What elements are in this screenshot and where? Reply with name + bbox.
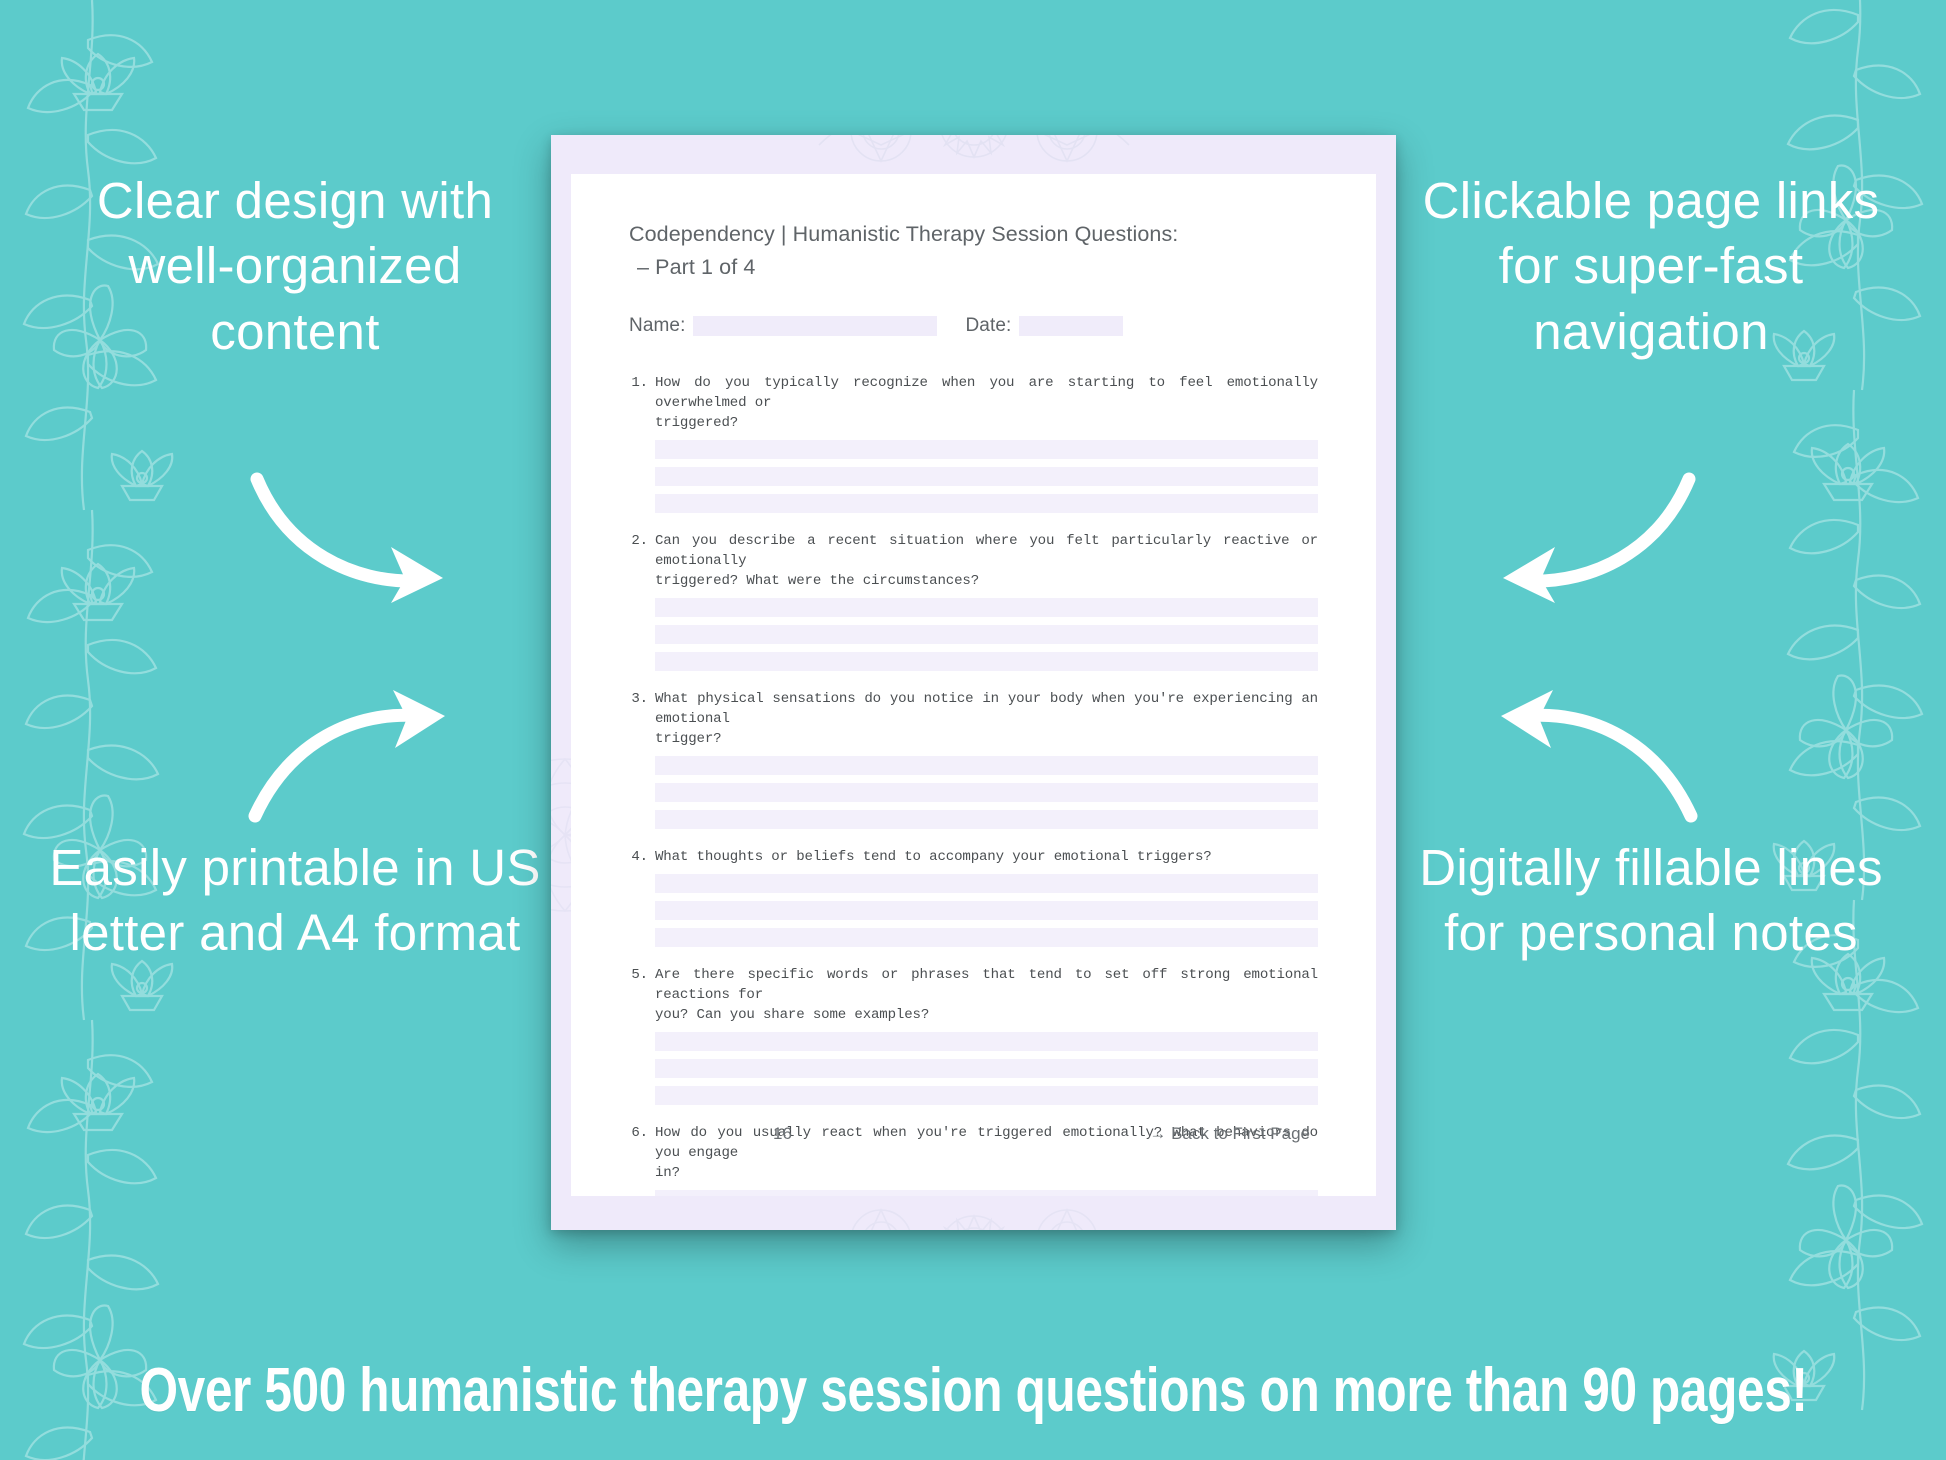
answer-line[interactable] bbox=[655, 440, 1318, 459]
curved-arrow-up-left-icon bbox=[1476, 690, 1701, 830]
page-number: 16 bbox=[773, 1124, 792, 1144]
question-text: Are there specific words or phrases that… bbox=[655, 965, 1318, 1025]
question-number: 1. bbox=[629, 373, 655, 393]
answer-line[interactable] bbox=[655, 1032, 1318, 1051]
question-number: 3. bbox=[629, 689, 655, 709]
question-text: What physical sensations do you notice i… bbox=[655, 689, 1318, 749]
worksheet-content-area: Codependency | Humanistic Therapy Sessio… bbox=[571, 174, 1376, 1196]
question-list: 1. How do you typically recognize when y… bbox=[629, 373, 1318, 1196]
promo-stage: Clear design with well-organized content… bbox=[0, 0, 1946, 1460]
curved-arrow-right-icon bbox=[245, 465, 470, 605]
worksheet-page: Codependency | Humanistic Therapy Sessio… bbox=[551, 135, 1396, 1230]
banner-headline: Over 500 humanistic therapy session ques… bbox=[139, 1355, 1807, 1426]
worksheet-footer: 16 → Back to First Page bbox=[629, 1124, 1318, 1144]
answer-line[interactable] bbox=[655, 874, 1318, 893]
answer-lines bbox=[629, 440, 1318, 513]
answer-line[interactable] bbox=[655, 652, 1318, 671]
question-item: 4. What thoughts or beliefs tend to acco… bbox=[629, 847, 1318, 947]
answer-line[interactable] bbox=[655, 494, 1318, 513]
name-input[interactable] bbox=[693, 316, 937, 336]
answer-line[interactable] bbox=[655, 810, 1318, 829]
caption-fillable-lines: Digitally fillable lines for personal no… bbox=[1396, 835, 1906, 966]
meta-row: Name: Date: bbox=[629, 315, 1318, 337]
question-number: 4. bbox=[629, 847, 655, 867]
answer-line[interactable] bbox=[655, 783, 1318, 802]
answer-line[interactable] bbox=[655, 928, 1318, 947]
caption-clickable-links: Clickable page links for super-fast navi… bbox=[1396, 168, 1906, 364]
question-item: 5. Are there specific words or phrases t… bbox=[629, 965, 1318, 1105]
question-number: 5. bbox=[629, 965, 655, 985]
caption-easily-printable: Easily printable in US letter and A4 for… bbox=[40, 835, 550, 966]
question-item: 1. How do you typically recognize when y… bbox=[629, 373, 1318, 513]
answer-line[interactable] bbox=[655, 1190, 1318, 1196]
answer-line[interactable] bbox=[655, 1059, 1318, 1078]
question-text: How do you typically recognize when you … bbox=[655, 373, 1318, 433]
answer-lines bbox=[629, 874, 1318, 947]
answer-line[interactable] bbox=[655, 1086, 1318, 1105]
date-input[interactable] bbox=[1019, 316, 1123, 336]
question-item: 2. Can you describe a recent situation w… bbox=[629, 531, 1318, 671]
answer-lines bbox=[629, 1032, 1318, 1105]
answer-line[interactable] bbox=[655, 756, 1318, 775]
answer-line[interactable] bbox=[655, 901, 1318, 920]
name-label: Name: bbox=[629, 315, 685, 337]
back-to-first-page-link[interactable]: → Back to First Page bbox=[1149, 1124, 1310, 1144]
caption-clear-design: Clear design with well-organized content bbox=[40, 168, 550, 364]
answer-line[interactable] bbox=[655, 598, 1318, 617]
curved-arrow-left-icon bbox=[1476, 465, 1701, 605]
answer-lines bbox=[629, 756, 1318, 829]
question-text: What thoughts or beliefs tend to accompa… bbox=[655, 847, 1318, 867]
page-title: Codependency | Humanistic Therapy Sessio… bbox=[629, 219, 1318, 250]
answer-lines bbox=[629, 598, 1318, 671]
answer-line[interactable] bbox=[655, 467, 1318, 486]
curved-arrow-up-right-icon bbox=[245, 690, 470, 830]
page-subtitle: – Part 1 of 4 bbox=[629, 252, 1318, 283]
question-item: 3. What physical sensations do you notic… bbox=[629, 689, 1318, 829]
answer-lines bbox=[629, 1190, 1318, 1196]
date-label: Date: bbox=[965, 315, 1011, 337]
question-text: Can you describe a recent situation wher… bbox=[655, 531, 1318, 591]
bottom-banner: Over 500 humanistic therapy session ques… bbox=[0, 1320, 1946, 1460]
question-number: 2. bbox=[629, 531, 655, 551]
answer-line[interactable] bbox=[655, 625, 1318, 644]
